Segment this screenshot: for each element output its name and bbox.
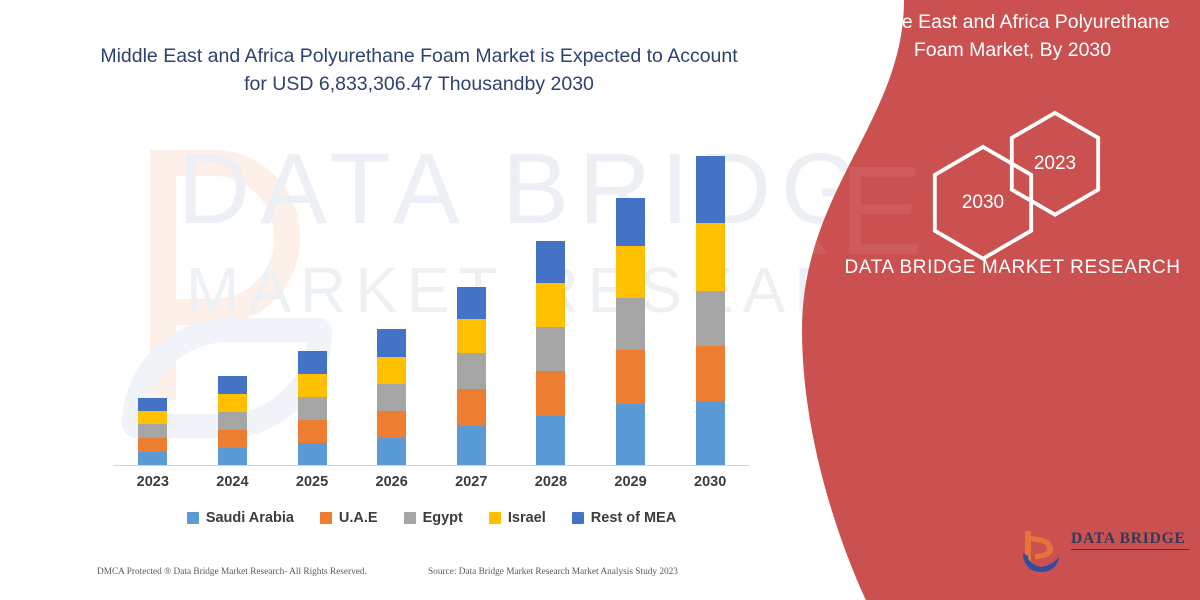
legend-swatch-icon bbox=[572, 512, 584, 524]
legend-item-u-a-e[interactable]: U.A.E bbox=[320, 510, 378, 526]
bar-segment-2023-u-a-e bbox=[138, 438, 167, 452]
bar-segment-2029-egypt bbox=[616, 298, 645, 350]
bar-2024 bbox=[218, 376, 247, 466]
legend-label: Saudi Arabia bbox=[206, 510, 294, 526]
panel-title: Middle East and Africa Polyurethane Foam… bbox=[840, 8, 1185, 65]
bar-segment-2024-rest-of-mea bbox=[218, 376, 247, 394]
footer-dmca-text: DMCA Protected ® Data Bridge Market Rese… bbox=[97, 567, 367, 577]
legend-swatch-icon bbox=[320, 512, 332, 524]
bar-2030 bbox=[696, 156, 725, 466]
legend-label: Israel bbox=[508, 510, 546, 526]
hexagon-2023-label: 2023 bbox=[1034, 153, 1076, 175]
panel-brand-text: DATA BRIDGE MARKET RESEARCH bbox=[840, 255, 1185, 282]
bar-segment-2030-u-a-e bbox=[696, 346, 725, 401]
legend-item-israel[interactable]: Israel bbox=[489, 510, 546, 526]
bar-segment-2028-u-a-e bbox=[536, 371, 565, 416]
x-label-2028: 2028 bbox=[511, 474, 591, 490]
bar-segment-2028-rest-of-mea bbox=[536, 241, 565, 283]
legend-swatch-icon bbox=[404, 512, 416, 524]
bar-segment-2028-israel bbox=[536, 283, 565, 327]
bar-2023 bbox=[138, 398, 167, 466]
x-label-2029: 2029 bbox=[591, 474, 671, 490]
bar-segment-2029-saudi-arabia bbox=[616, 404, 645, 466]
bar-segment-2023-israel bbox=[138, 411, 167, 424]
x-label-2025: 2025 bbox=[272, 474, 352, 490]
bar-segment-2026-egypt bbox=[377, 384, 406, 411]
x-label-2023: 2023 bbox=[113, 474, 193, 490]
bar-segment-2025-saudi-arabia bbox=[298, 443, 327, 466]
bar-segment-2024-egypt bbox=[218, 412, 247, 430]
hexagon-2030: 2030 bbox=[930, 144, 1036, 262]
bar-2025 bbox=[298, 351, 327, 466]
bar-segment-2028-egypt bbox=[536, 327, 565, 371]
bar-segment-2030-egypt bbox=[696, 291, 725, 346]
right-highlight-panel: RE Middle East and Africa Polyurethane F… bbox=[780, 0, 1200, 600]
bar-segment-2030-rest-of-mea bbox=[696, 156, 725, 223]
bar-segment-2025-israel bbox=[298, 374, 327, 397]
bar-segment-2025-rest-of-mea bbox=[298, 351, 327, 374]
bar-2028 bbox=[536, 241, 565, 466]
legend-item-rest-of-mea[interactable]: Rest of MEA bbox=[572, 510, 676, 526]
legend-label: Egypt bbox=[423, 510, 463, 526]
bar-segment-2026-israel bbox=[377, 357, 406, 384]
bar-segment-2025-u-a-e bbox=[298, 420, 327, 443]
bar-segment-2028-saudi-arabia bbox=[536, 416, 565, 466]
bar-segment-2026-saudi-arabia bbox=[377, 438, 406, 466]
hexagon-group: 2023 2030 bbox=[910, 110, 1190, 245]
bar-segment-2030-saudi-arabia bbox=[696, 401, 725, 466]
bar-segment-2027-israel bbox=[457, 319, 486, 353]
legend-swatch-icon bbox=[187, 512, 199, 524]
bar-segment-2029-u-a-e bbox=[616, 350, 645, 404]
bar-segment-2024-israel bbox=[218, 394, 247, 412]
bar-segment-2027-egypt bbox=[457, 353, 486, 389]
bar-2027 bbox=[457, 287, 486, 466]
data-bridge-logo: DATA BRIDGE MARKET RESEARCH bbox=[1013, 525, 1188, 577]
x-label-2026: 2026 bbox=[352, 474, 432, 490]
stacked-bar-plot bbox=[113, 140, 750, 466]
legend-item-egypt[interactable]: Egypt bbox=[404, 510, 463, 526]
x-axis-line bbox=[113, 465, 750, 466]
bar-segment-2023-egypt bbox=[138, 424, 167, 438]
legend-label: Rest of MEA bbox=[591, 510, 676, 526]
logo-title: DATA BRIDGE bbox=[1071, 531, 1191, 547]
infographic-page: DATA BRIDGE MARKET RESEARCH Middle East … bbox=[0, 0, 1200, 600]
x-axis-tick-labels: 20232024202520262027202820292030 bbox=[113, 474, 750, 496]
bar-2026 bbox=[377, 329, 406, 466]
bar-segment-2029-israel bbox=[616, 246, 645, 298]
bar-segment-2026-rest-of-mea bbox=[377, 329, 406, 357]
bar-2029 bbox=[616, 198, 645, 466]
x-label-2027: 2027 bbox=[431, 474, 511, 490]
bar-segment-2024-u-a-e bbox=[218, 430, 247, 448]
bar-segment-2024-saudi-arabia bbox=[218, 448, 247, 466]
bar-segment-2027-u-a-e bbox=[457, 389, 486, 426]
bar-segment-2023-rest-of-mea bbox=[138, 398, 167, 411]
x-label-2030: 2030 bbox=[670, 474, 750, 490]
x-label-2024: 2024 bbox=[192, 474, 272, 490]
bar-segment-2030-israel bbox=[696, 223, 725, 291]
data-bridge-logo-text: DATA BRIDGE MARKET RESEARCH bbox=[1071, 531, 1191, 558]
bar-segment-2023-saudi-arabia bbox=[138, 452, 167, 466]
legend-swatch-icon bbox=[489, 512, 501, 524]
chart-legend: Saudi ArabiaU.A.EEgyptIsraelRest of MEA bbox=[113, 510, 750, 526]
legend-label: U.A.E bbox=[339, 510, 378, 526]
bar-segment-2025-egypt bbox=[298, 397, 327, 420]
hexagon-2030-label: 2030 bbox=[962, 192, 1004, 214]
bar-segment-2027-saudi-arabia bbox=[457, 426, 486, 466]
bar-segment-2027-rest-of-mea bbox=[457, 287, 486, 319]
footer-source-text: Source: Data Bridge Market Research Mark… bbox=[428, 567, 678, 577]
bar-segment-2029-rest-of-mea bbox=[616, 198, 645, 246]
chart-container: 20232024202520262027202820292030 Saudi A… bbox=[0, 0, 790, 600]
data-bridge-logo-mark bbox=[1013, 527, 1065, 575]
legend-item-saudi-arabia[interactable]: Saudi Arabia bbox=[187, 510, 294, 526]
bar-segment-2026-u-a-e bbox=[377, 411, 406, 438]
logo-subtitle: MARKET RESEARCH bbox=[1071, 551, 1191, 558]
